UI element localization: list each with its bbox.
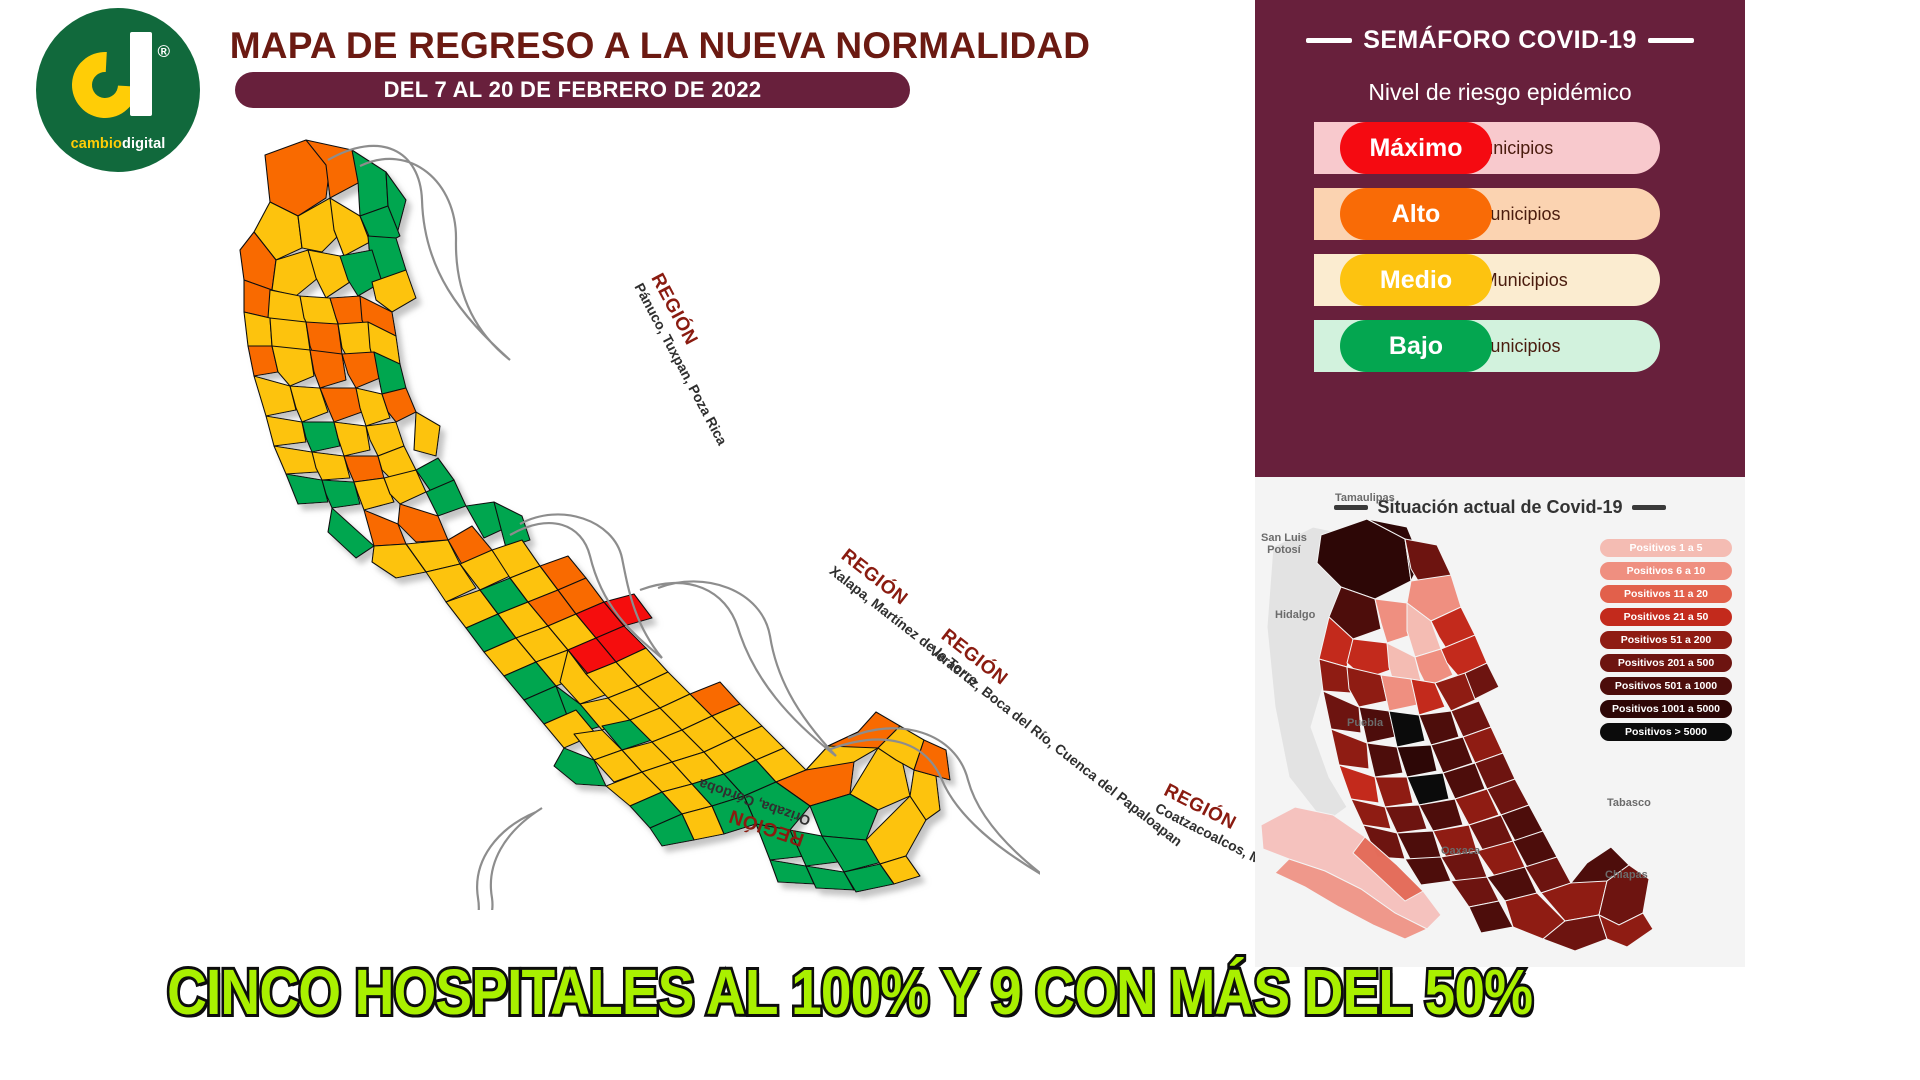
- legend-item-51-200[interactable]: Positivos 51 a 200: [1600, 631, 1732, 649]
- infographic-root: ® cambiodigital MAPA DE REGRESO A LA NUE…: [0, 0, 1920, 1080]
- semaforo-subtitle: Nivel de riesgo epidémico: [1255, 79, 1745, 106]
- state-label-san-luis-potosi: San Luis Potosí: [1261, 532, 1307, 556]
- legend-item-1001-5000[interactable]: Positivos 1001 a 5000: [1600, 700, 1732, 718]
- state-label-chiapas: Chiapas: [1605, 869, 1648, 881]
- legend-item-501-1000[interactable]: Positivos 501 a 1000: [1600, 677, 1732, 695]
- legend-item-21-50[interactable]: Positivos 21 a 50: [1600, 608, 1732, 626]
- covid-legend: Positivos 1 a 5 Positivos 6 a 10 Positiv…: [1600, 539, 1732, 741]
- semaforo-panel: SEMÁFORO COVID-19 Nivel de riesgo epidém…: [1255, 0, 1745, 477]
- header-rule-left-icon: [1306, 38, 1352, 43]
- legend-item-201-500[interactable]: Positivos 201 a 500: [1600, 654, 1732, 672]
- semaforo-chip-bajo: Bajo: [1340, 320, 1492, 372]
- state-label-tabasco: Tabasco: [1607, 797, 1651, 809]
- legend-item-gt-5000[interactable]: Positivos > 5000: [1600, 723, 1732, 741]
- semaforo-title: SEMÁFORO COVID-19: [1363, 26, 1637, 55]
- state-label-tamaulipas: Tamaulipas: [1335, 492, 1395, 504]
- legend-item-6-10[interactable]: Positivos 6 a 10: [1600, 562, 1732, 580]
- veracruz-semaforo-map: REGIÓN Pánuco, Tuxpan, Poza Rica REGIÓN …: [210, 120, 1040, 910]
- logo-d-stem: [130, 32, 152, 116]
- semaforo-header: SEMÁFORO COVID-19: [1255, 26, 1745, 55]
- state-label-oaxaca: Oaxaca: [1441, 845, 1480, 857]
- semaforo-row-medio[interactable]: 104 Municipios Medio: [1340, 254, 1660, 306]
- semaforo-chip-alto: Alto: [1340, 188, 1492, 240]
- cambio-digital-logo: ® cambiodigital: [36, 8, 200, 172]
- logo-mark: ®: [70, 34, 166, 130]
- semaforo-row-bajo[interactable]: 70 Municipios Bajo: [1340, 320, 1660, 372]
- semaforo-row-maximo[interactable]: 7 Municipios Máximo: [1340, 122, 1660, 174]
- state-label-puebla: Puebla: [1347, 717, 1383, 729]
- state-label-hidalgo: Hidalgo: [1275, 609, 1315, 621]
- legend-item-11-20[interactable]: Positivos 11 a 20: [1600, 585, 1732, 603]
- semaforo-row-alto[interactable]: 31 Municipios Alto: [1340, 188, 1660, 240]
- date-range-text: DEL 7 AL 20 DE FEBRERO DE 2022: [384, 77, 762, 103]
- region-brackets: [210, 120, 1040, 910]
- semaforo-level-list: 7 Municipios Máximo 31 Municipios Alto 1…: [1255, 122, 1745, 372]
- semaforo-chip-maximo: Máximo: [1340, 122, 1492, 174]
- legend-item-1-5[interactable]: Positivos 1 a 5: [1600, 539, 1732, 557]
- header-rule-right-icon: [1648, 38, 1694, 43]
- count-unit: Municipios: [1483, 270, 1568, 291]
- logo-word-digital: digital: [122, 136, 165, 152]
- date-range-pill: DEL 7 AL 20 DE FEBRERO DE 2022: [235, 72, 910, 108]
- logo-word-cambio: cambio: [71, 136, 122, 152]
- semaforo-chip-medio: Medio: [1340, 254, 1492, 306]
- covid-situation-panel: Situación actual de Covid-19 Positivos 1…: [1255, 477, 1745, 967]
- registered-mark-icon: ®: [157, 42, 170, 62]
- logo-wordmark: cambiodigital: [71, 136, 166, 152]
- page-title: MAPA DE REGRESO A LA NUEVA NORMALIDAD: [220, 25, 1100, 67]
